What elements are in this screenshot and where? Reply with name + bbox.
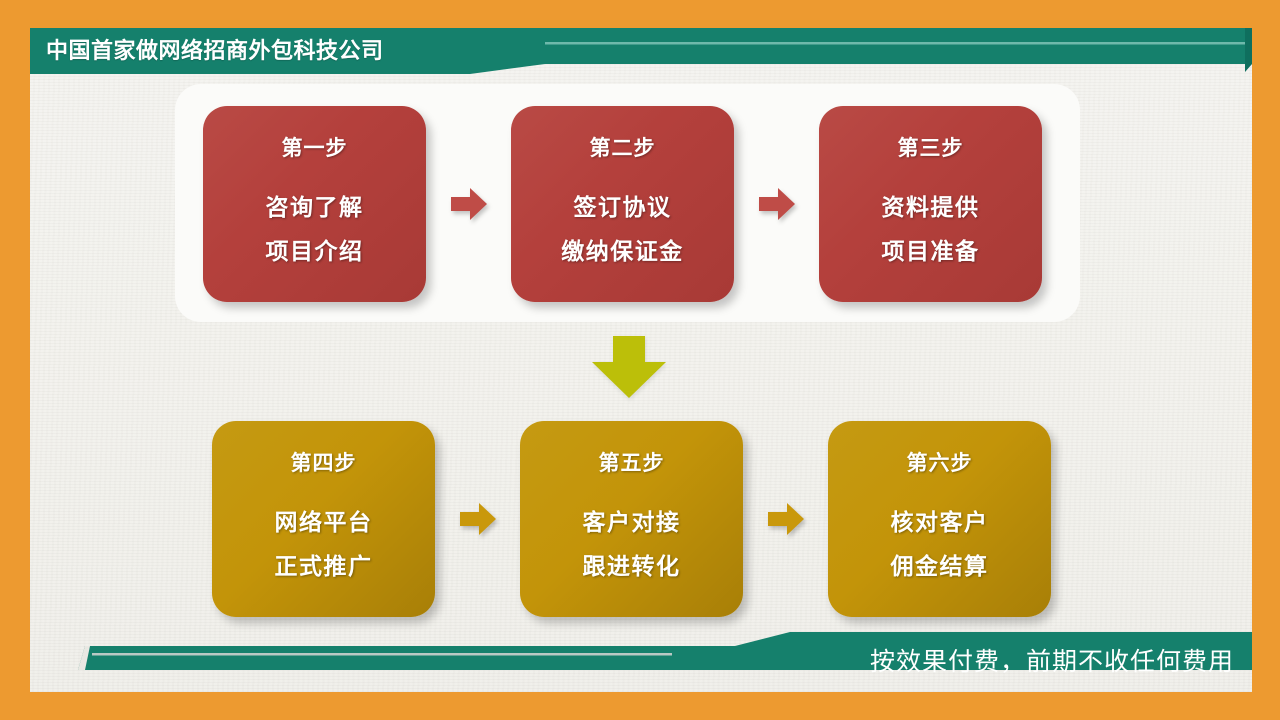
arrow-slot-4-5	[435, 502, 520, 536]
step-lines-6: 核对客户 佣金结算	[891, 503, 989, 581]
step-box-1[interactable]: 第一步 咨询了解 项目介绍	[203, 106, 426, 302]
arrow-right-icon	[451, 187, 487, 221]
step-line-6-1: 核对客户	[891, 503, 989, 537]
step-title-6: 第六步	[907, 447, 973, 477]
arrow-slot-1-2	[426, 187, 511, 221]
step-line-1-1: 咨询了解	[266, 188, 364, 222]
step-line-3-1: 资料提供	[882, 188, 980, 222]
step-line-2-2: 缴纳保证金	[561, 232, 684, 266]
step-lines-1: 咨询了解 项目介绍	[266, 188, 364, 266]
page-title: 中国首家做网络招商外包科技公司	[46, 36, 384, 66]
step-title-4: 第四步	[291, 447, 357, 477]
step-line-5-2: 跟进转化	[583, 547, 681, 581]
arrow-slot-5-6	[743, 502, 828, 536]
arrow-slot-2-3	[734, 187, 819, 221]
flow-row-bottom: 第四步 网络平台 正式推广 第五步 客户对接 跟进转化 第六步	[212, 421, 1051, 617]
step-line-3-2: 项目准备	[882, 232, 980, 266]
arrow-right-icon	[768, 502, 804, 536]
flow-row-top: 第一步 咨询了解 项目介绍 第二步 签订协议 缴纳保证金 第三步	[203, 106, 1042, 302]
step-lines-4: 网络平台 正式推广	[275, 503, 373, 581]
step-title-2: 第二步	[590, 132, 656, 162]
step-line-6-2: 佣金结算	[891, 547, 989, 581]
arrow-right-icon	[460, 502, 496, 536]
step-line-5-1: 客户对接	[583, 503, 681, 537]
step-lines-3: 资料提供 项目准备	[882, 188, 980, 266]
slide-root: 中国首家做网络招商外包科技公司 第一步 咨询了解 项目介绍 第二步 签订协议 缴…	[0, 0, 1280, 720]
step-box-4[interactable]: 第四步 网络平台 正式推广	[212, 421, 435, 617]
arrow-down-icon	[592, 336, 666, 398]
step-box-6[interactable]: 第六步 核对客户 佣金结算	[828, 421, 1051, 617]
step-title-3: 第三步	[898, 132, 964, 162]
step-line-4-2: 正式推广	[275, 547, 373, 581]
step-lines-2: 签订协议 缴纳保证金	[561, 188, 684, 266]
step-title-5: 第五步	[599, 447, 665, 477]
step-line-2-1: 签订协议	[574, 188, 672, 222]
step-box-3[interactable]: 第三步 资料提供 项目准备	[819, 106, 1042, 302]
step-box-2[interactable]: 第二步 签订协议 缴纳保证金	[511, 106, 734, 302]
step-box-5[interactable]: 第五步 客户对接 跟进转化	[520, 421, 743, 617]
footer-slogan: 按效果付费，前期不收任何费用	[870, 645, 1234, 679]
step-lines-5: 客户对接 跟进转化	[583, 503, 681, 581]
step-title-1: 第一步	[282, 132, 348, 162]
arrow-right-icon	[759, 187, 795, 221]
step-line-1-2: 项目介绍	[266, 232, 364, 266]
step-line-4-1: 网络平台	[275, 503, 373, 537]
